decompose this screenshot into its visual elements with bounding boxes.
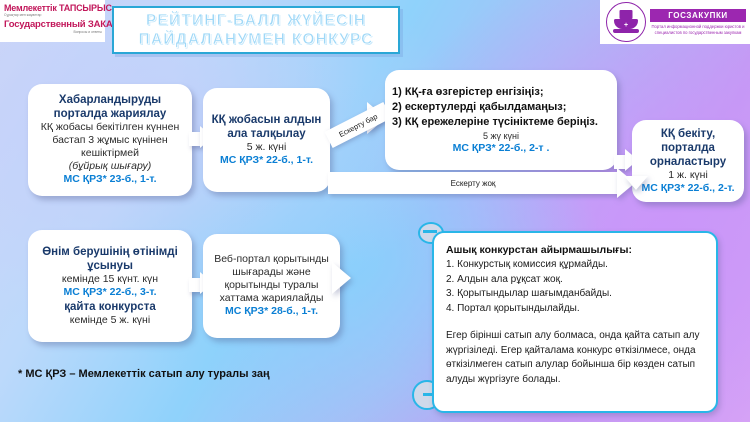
goszakupki-emblem-icon: + xyxy=(606,2,646,42)
logo-state-order: Мемлекеттік ТАПСЫРЫС Сұрақтар мен жауапт… xyxy=(0,0,105,42)
slide-root: Мемлекеттік ТАПСЫРЫС Сұрақтар мен жауапт… xyxy=(0,0,750,422)
logo-left-line1-sub: Сұрақтар мен жауаптар xyxy=(4,13,102,18)
supplier-reference: МС ҚРЗ* 22-б., 3-т. xyxy=(64,286,157,300)
arrow-head-icon xyxy=(332,262,351,294)
emblem-plus-icon: + xyxy=(624,22,628,29)
prediscussion-heading-line2: ала талқылау xyxy=(227,127,305,141)
approval-heading-line3: орналастыру xyxy=(650,155,726,169)
supplier-heading-line1: Өнім берушінің өтінімді xyxy=(42,245,178,259)
callout-differences: Ашық конкурстан айырмашылығы: 1. Конкурс… xyxy=(432,231,718,413)
announcement-body-line3: кешіктірмей xyxy=(81,147,139,160)
step-box-announcement: Хабарландыруды порталда жариялау КҚ жоба… xyxy=(28,84,192,196)
arrow-shaft: Ескерту жоқ xyxy=(328,172,618,194)
webportal-heading-line4: хаттама жариялайды xyxy=(220,292,324,305)
step-box-options: 1) КҚ-ға өзгерістер енгізіңіз; 2) ескерт… xyxy=(385,70,617,170)
callout-item-3: 3. Қорытындылар шағымданбайды. xyxy=(446,287,704,302)
announcement-body-line4: (бұйрық шығару) xyxy=(69,160,151,173)
step-box-prediscussion: КҚ жобасын алдын ала талқылау 5 ж. күні … xyxy=(203,88,330,192)
options-item-2: 2) ескертулерді қабылдамаңыз; xyxy=(392,100,610,115)
arrow-label-has-remark-text: Ескерту бар xyxy=(337,111,379,138)
webportal-heading-line3: қорытынды туралы xyxy=(225,279,319,292)
supplier-body-line3: кемінде 5 ж. күні xyxy=(70,314,150,327)
prediscussion-reference: МС ҚРЗ* 22-б., 1-т. xyxy=(220,154,313,168)
slide-title-banner: РЕЙТИНГ-БАЛЛ ЖҮЙЕСІН ПАЙДАЛАНУМЕН КОНКУР… xyxy=(112,6,400,54)
arrow-no-remark: Ескерту жоқ xyxy=(328,172,636,194)
logo-left-line2: Государственный ЗАКАЗ xyxy=(4,19,102,30)
logo-left-line2-sub: Вопросы и ответы xyxy=(4,30,102,35)
approval-heading-line1: КҚ бекіту, xyxy=(661,127,715,141)
arrow-label-no-remark-text: Ескерту жоқ xyxy=(451,179,496,188)
supplier-body-line1: кемінде 15 күнт. күн xyxy=(62,273,158,286)
step-box-supplier-application: Өнім берушінің өтінімді ұсынуы кемінде 1… xyxy=(28,230,192,342)
callout-paragraph: Егер бірінші сатып алу болмаса, онда қай… xyxy=(446,329,704,387)
emblem-bar-shape xyxy=(613,29,639,33)
approval-reference: МС ҚРЗ* 22-б., 2-т. xyxy=(642,182,735,196)
callout-title: Ашық конкурстан айырмашылығы: xyxy=(446,243,704,257)
webportal-reference: МС ҚРЗ* 28-б., 1-т. xyxy=(225,305,318,319)
step-box-webportal-result: Веб-портал қорытынды шығарады және қорыт… xyxy=(203,234,340,338)
options-body-line1: 5 жү күні xyxy=(483,130,519,142)
supplier-heading-line2: ұсынуы xyxy=(87,259,133,273)
approval-body-line1: 1 ж. күні xyxy=(668,169,708,182)
goszakupki-subtitle: Портал информационной поддержки юристов … xyxy=(650,22,746,35)
slide-title-line2: ПАЙДАЛАНУМЕН КОНКУРС xyxy=(139,30,374,49)
slide-title-line1: РЕЙТИНГ-БАЛЛ ЖҮЙЕСІН xyxy=(146,11,366,30)
announcement-heading-line1: Хабарландыруды xyxy=(59,93,161,107)
options-reference: МС ҚРЗ* 22-б., 2-т . xyxy=(453,142,550,156)
logo-left-line1: Мемлекеттік ТАПСЫРЫС xyxy=(4,3,102,13)
webportal-heading-line2: шығарады және xyxy=(232,266,310,279)
arrow-head-icon xyxy=(624,176,648,190)
callout-pointer-line xyxy=(423,230,437,233)
announcement-body-line2: бастап 3 жұмыс күнінен xyxy=(52,134,167,147)
announcement-body-line1: КҚ жобасы бекітілген күннен xyxy=(41,121,180,134)
webportal-heading-line1: Веб-портал қорытынды xyxy=(214,253,329,266)
options-item-1: 1) КҚ-ға өзгерістер енгізіңіз; xyxy=(392,85,610,100)
logo-goszakupki: + ГОСЗАКУПКИ Портал информационной подде… xyxy=(600,0,750,44)
options-item-3: 3) КҚ ережелеріне түсініктеме беріңіз. xyxy=(392,115,610,130)
announcement-heading-line2: порталда жариялау xyxy=(54,107,167,121)
approval-heading-line2: порталда xyxy=(661,141,715,155)
emblem-box-shape xyxy=(620,10,633,19)
footnote-law-abbreviation: * МС ҚРЗ – Мемлекеттік сатып алу туралы … xyxy=(18,368,270,380)
announcement-reference: МС ҚРЗ* 23-б., 1-т. xyxy=(64,173,157,187)
supplier-body-line2: қайта конкурста xyxy=(64,300,155,314)
prediscussion-heading-line1: КҚ жобасын алдын xyxy=(212,113,322,127)
step-box-approval: КҚ бекіту, порталда орналастыру 1 ж. күн… xyxy=(632,120,744,202)
prediscussion-body-line1: 5 ж. күні xyxy=(247,141,287,154)
goszakupki-title: ГОСЗАКУПКИ xyxy=(650,9,746,22)
callout-item-2: 2. Алдын ала рұқсат жоқ. xyxy=(446,273,704,288)
callout-item-4: 4. Портал қорытындылайды. xyxy=(446,302,704,317)
callout-item-1: 1. Конкурстық комиссия құрмайды. xyxy=(446,258,704,273)
goszakupki-text-block: ГОСЗАКУПКИ Портал информационной поддерж… xyxy=(650,9,746,35)
